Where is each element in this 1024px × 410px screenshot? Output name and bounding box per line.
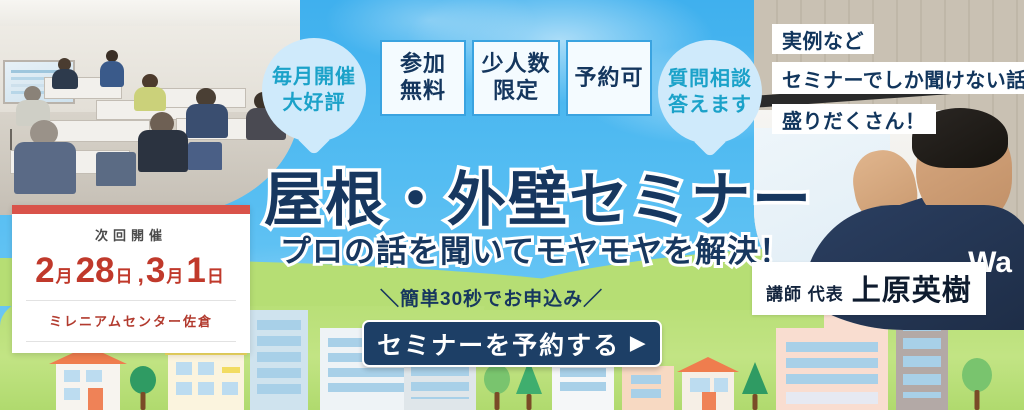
label-plenty: 盛りだくさん！ <box>772 104 936 134</box>
bubble-questions-line2: 答えます <box>668 92 752 118</box>
page-title: 屋根・外壁セミナー <box>264 152 813 237</box>
reserve-seminar-button[interactable]: セミナーを予約する ▶ <box>362 320 662 367</box>
next-session-card: 次回開催 2月28日,3月1日 ミレニアムセンター佐倉 <box>12 205 250 353</box>
building-pink-1 <box>776 328 888 410</box>
building-house-4 <box>56 362 120 410</box>
building-house-2 <box>622 366 674 410</box>
bubble-questions: 質問相談 答えます <box>658 40 762 144</box>
bubble-monthly-line1: 毎月開催 <box>272 64 356 90</box>
cta-subtext: ＼簡単30秒でお申込み／ <box>380 284 603 311</box>
date1-month-unit: 月 <box>56 267 73 286</box>
instructor-role: 講師 代表 <box>766 280 844 305</box>
feature-free-line2: 無料 <box>400 78 446 105</box>
card-divider-2 <box>26 341 236 342</box>
bubble-monthly-line2: 大好評 <box>283 90 346 116</box>
card-venue: ミレニアムセンター佐倉 <box>12 311 250 330</box>
reserve-seminar-label: セミナーを予約する <box>377 326 620 362</box>
tree-pine-2 <box>742 362 768 410</box>
building-house-3 <box>682 370 734 410</box>
label-exclusive-talk-text: セミナーでしか聞けない話が <box>782 64 1024 93</box>
date2-month-num: 3 <box>146 251 165 290</box>
feature-box-free: 参加 無料 <box>380 40 466 116</box>
instructor-label: 講師 代表 上原英樹 <box>752 262 986 315</box>
card-top-bar <box>12 205 250 214</box>
label-examples-text: 実例など <box>782 25 864 54</box>
date1-day-num: 28 <box>76 251 115 290</box>
building-cream-1 <box>168 354 244 410</box>
feature-free-line1: 参加 <box>400 51 446 78</box>
card-dates: 2月28日,3月1日 <box>12 251 250 291</box>
feature-small-line2: 限定 <box>493 78 539 105</box>
seminar-room-photo <box>0 0 300 215</box>
label-plenty-text: 盛りだくさん！ <box>782 105 926 134</box>
bubble-monthly: 毎月開催 大好評 <box>262 38 366 142</box>
label-exclusive-talk: セミナーでしか聞けない話が <box>772 62 1024 94</box>
feature-box-small-group: 少人数 限定 <box>472 40 560 116</box>
label-examples: 実例など <box>772 24 874 54</box>
seminar-banner: Wa 毎月開催 大好評 参加 無料 少人数 限定 予約可 質問相談 答えます 実… <box>0 0 1024 410</box>
card-heading: 次回開催 <box>12 225 250 244</box>
date2-day-unit: 日 <box>207 267 224 286</box>
page-subtitle: プロの話を聞いてモヤモヤを解決！ <box>280 226 791 271</box>
instructor-name: 上原英樹 <box>852 267 972 309</box>
date2-day-num: 1 <box>186 251 205 290</box>
building-tall-1 <box>250 310 308 410</box>
date-separator: , <box>138 261 144 287</box>
tree-round-2 <box>962 358 992 410</box>
building-house-1 <box>552 360 614 410</box>
date1-day-unit: 日 <box>116 267 133 286</box>
feature-box-reservation: 予約可 <box>566 40 652 116</box>
bubble-questions-line1: 質問相談 <box>668 66 752 92</box>
feature-reserve-line1: 予約可 <box>574 65 643 92</box>
arrow-right-icon: ▶ <box>630 332 647 355</box>
tree-pine-1 <box>516 360 542 410</box>
date1-month-num: 2 <box>35 251 54 290</box>
feature-small-line1: 少人数 <box>481 51 550 78</box>
date2-month-unit: 月 <box>166 267 183 286</box>
tree-round-1 <box>484 364 510 410</box>
tree-round-3 <box>130 366 156 410</box>
card-divider-1 <box>26 300 236 301</box>
